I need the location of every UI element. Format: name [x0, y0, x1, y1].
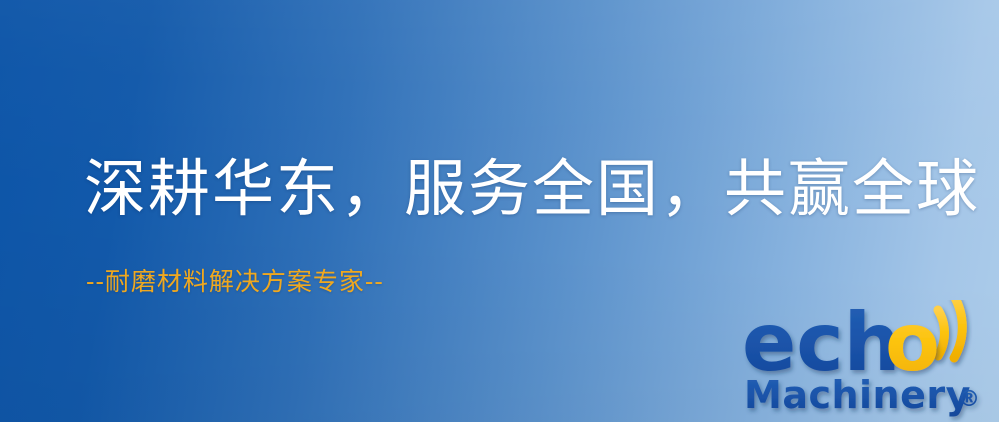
promo-banner: 深耕华东，服务全国，共赢全球 --耐磨材料解决方案专家-- [0, 0, 999, 422]
banner-subtitle: --耐磨材料解决方案专家-- [86, 266, 384, 298]
logo-registered-trademark-icon: ® [958, 387, 980, 412]
echo-machinery-logo: ech o Machinery ® [742, 300, 998, 422]
banner-headline: 深耕华东，服务全国，共赢全球 [84, 152, 980, 226]
logo-subword-machinery: Machinery [744, 373, 971, 417]
echo-wave-arcs-icon [938, 300, 962, 358]
